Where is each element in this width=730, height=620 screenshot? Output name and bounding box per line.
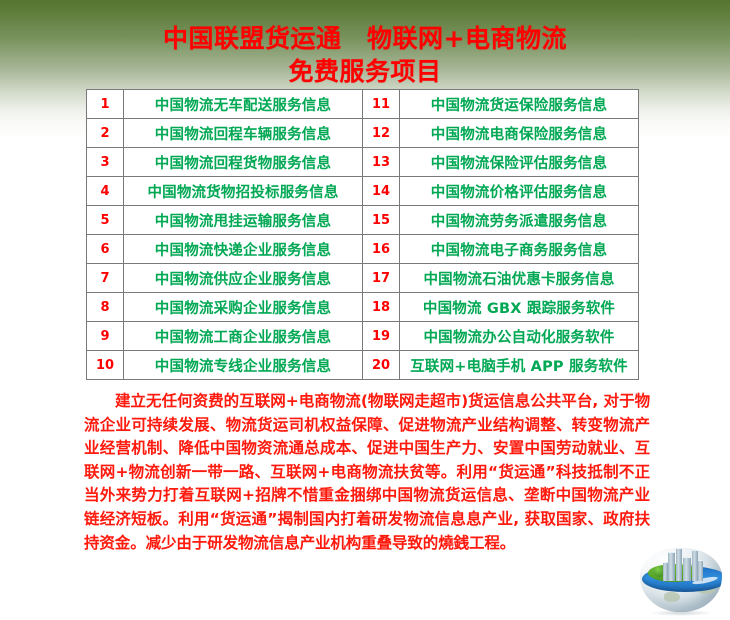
service-name-left: 中国物流无车配送服务信息	[124, 90, 363, 119]
row-number-right: 18	[363, 293, 400, 322]
table-row: 1中国物流无车配送服务信息11中国物流货运保险服务信息	[87, 90, 639, 119]
table-row: 7中国物流供应企业服务信息17中国物流石油优惠卡服务信息	[87, 264, 639, 293]
row-number-left: 1	[87, 90, 124, 119]
row-number-right: 16	[363, 235, 400, 264]
service-name-left: 中国物流供应企业服务信息	[124, 264, 363, 293]
service-name-left: 中国物流回程货物服务信息	[124, 148, 363, 177]
service-name-left: 中国物流专线企业服务信息	[124, 351, 363, 380]
table-body: 1中国物流无车配送服务信息11中国物流货运保险服务信息2中国物流回程车辆服务信息…	[87, 90, 639, 380]
globe-sphere	[640, 548, 722, 612]
table-row: 8中国物流采购企业服务信息18中国物流 GBX 跟踪服务软件	[87, 293, 639, 322]
row-number-right: 14	[363, 177, 400, 206]
table-row: 6中国物流快递企业服务信息16中国物流电子商务服务信息	[87, 235, 639, 264]
service-name-right: 中国物流货运保险服务信息	[400, 90, 639, 119]
row-number-right: 19	[363, 322, 400, 351]
slide-canvas: 中国联盟货运通 物联网+电商物流 免费服务项目 1中国物流无车配送服务信息11中…	[0, 0, 730, 620]
description-paragraph: 建立无任何资费的互联网+电商物流(物联网走超市)货运信息公共平台, 对于物流企业…	[84, 390, 650, 555]
service-name-right: 中国物流保险评估服务信息	[400, 148, 639, 177]
service-name-right: 中国物流石油优惠卡服务信息	[400, 264, 639, 293]
service-name-right: 中国物流 GBX 跟踪服务软件	[400, 293, 639, 322]
row-number-left: 10	[87, 351, 124, 380]
service-name-right: 中国物流劳务派遣服务信息	[400, 206, 639, 235]
row-number-left: 3	[87, 148, 124, 177]
globe-shadow	[650, 610, 712, 616]
globe-landmass	[664, 592, 680, 602]
table-row: 3中国物流回程货物服务信息13中国物流保险评估服务信息	[87, 148, 639, 177]
service-name-left: 中国物流工商企业服务信息	[124, 322, 363, 351]
table-row: 5中国物流甩挂运输服务信息15中国物流劳务派遣服务信息	[87, 206, 639, 235]
row-number-left: 2	[87, 119, 124, 148]
service-items-table: 1中国物流无车配送服务信息11中国物流货运保险服务信息2中国物流回程车辆服务信息…	[86, 89, 639, 380]
table-row: 9中国物流工商企业服务信息19中国物流办公自动化服务软件	[87, 322, 639, 351]
service-name-left: 中国物流回程车辆服务信息	[124, 119, 363, 148]
row-number-right: 12	[363, 119, 400, 148]
building-icon	[698, 560, 703, 581]
building-icon	[683, 557, 691, 581]
service-name-left: 中国物流采购企业服务信息	[124, 293, 363, 322]
service-name-left: 中国物流甩挂运输服务信息	[124, 206, 363, 235]
row-number-left: 6	[87, 235, 124, 264]
building-icon	[676, 548, 682, 581]
service-name-right: 互联网+电脑手机 APP 服务软件	[400, 351, 639, 380]
building-icon	[668, 552, 675, 581]
row-number-right: 17	[363, 264, 400, 293]
row-number-right: 13	[363, 148, 400, 177]
row-number-right: 11	[363, 90, 400, 119]
row-number-left: 9	[87, 322, 124, 351]
row-number-right: 15	[363, 206, 400, 235]
row-number-left: 8	[87, 293, 124, 322]
title-line-2: 免费服务项目	[0, 55, 730, 88]
table-row: 10中国物流专线企业服务信息20互联网+电脑手机 APP 服务软件	[87, 351, 639, 380]
service-name-right: 中国物流电子商务服务信息	[400, 235, 639, 264]
table-row: 4中国物流货物招投标服务信息14中国物流价格评估服务信息	[87, 177, 639, 206]
slide-title: 中国联盟货运通 物联网+电商物流 免费服务项目	[0, 22, 730, 88]
service-name-right: 中国物流电商保险服务信息	[400, 119, 639, 148]
service-name-left: 中国物流货物招投标服务信息	[124, 177, 363, 206]
title-line-1: 中国联盟货运通 物联网+电商物流	[0, 22, 730, 55]
service-name-right: 中国物流办公自动化服务软件	[400, 322, 639, 351]
eco-city-globe-icon	[636, 520, 726, 616]
service-name-left: 中国物流快递企业服务信息	[124, 235, 363, 264]
service-name-right: 中国物流价格评估服务信息	[400, 177, 639, 206]
row-number-left: 5	[87, 206, 124, 235]
table-row: 2中国物流回程车辆服务信息12中国物流电商保险服务信息	[87, 119, 639, 148]
row-number-left: 7	[87, 264, 124, 293]
row-number-right: 20	[363, 351, 400, 380]
row-number-left: 4	[87, 177, 124, 206]
